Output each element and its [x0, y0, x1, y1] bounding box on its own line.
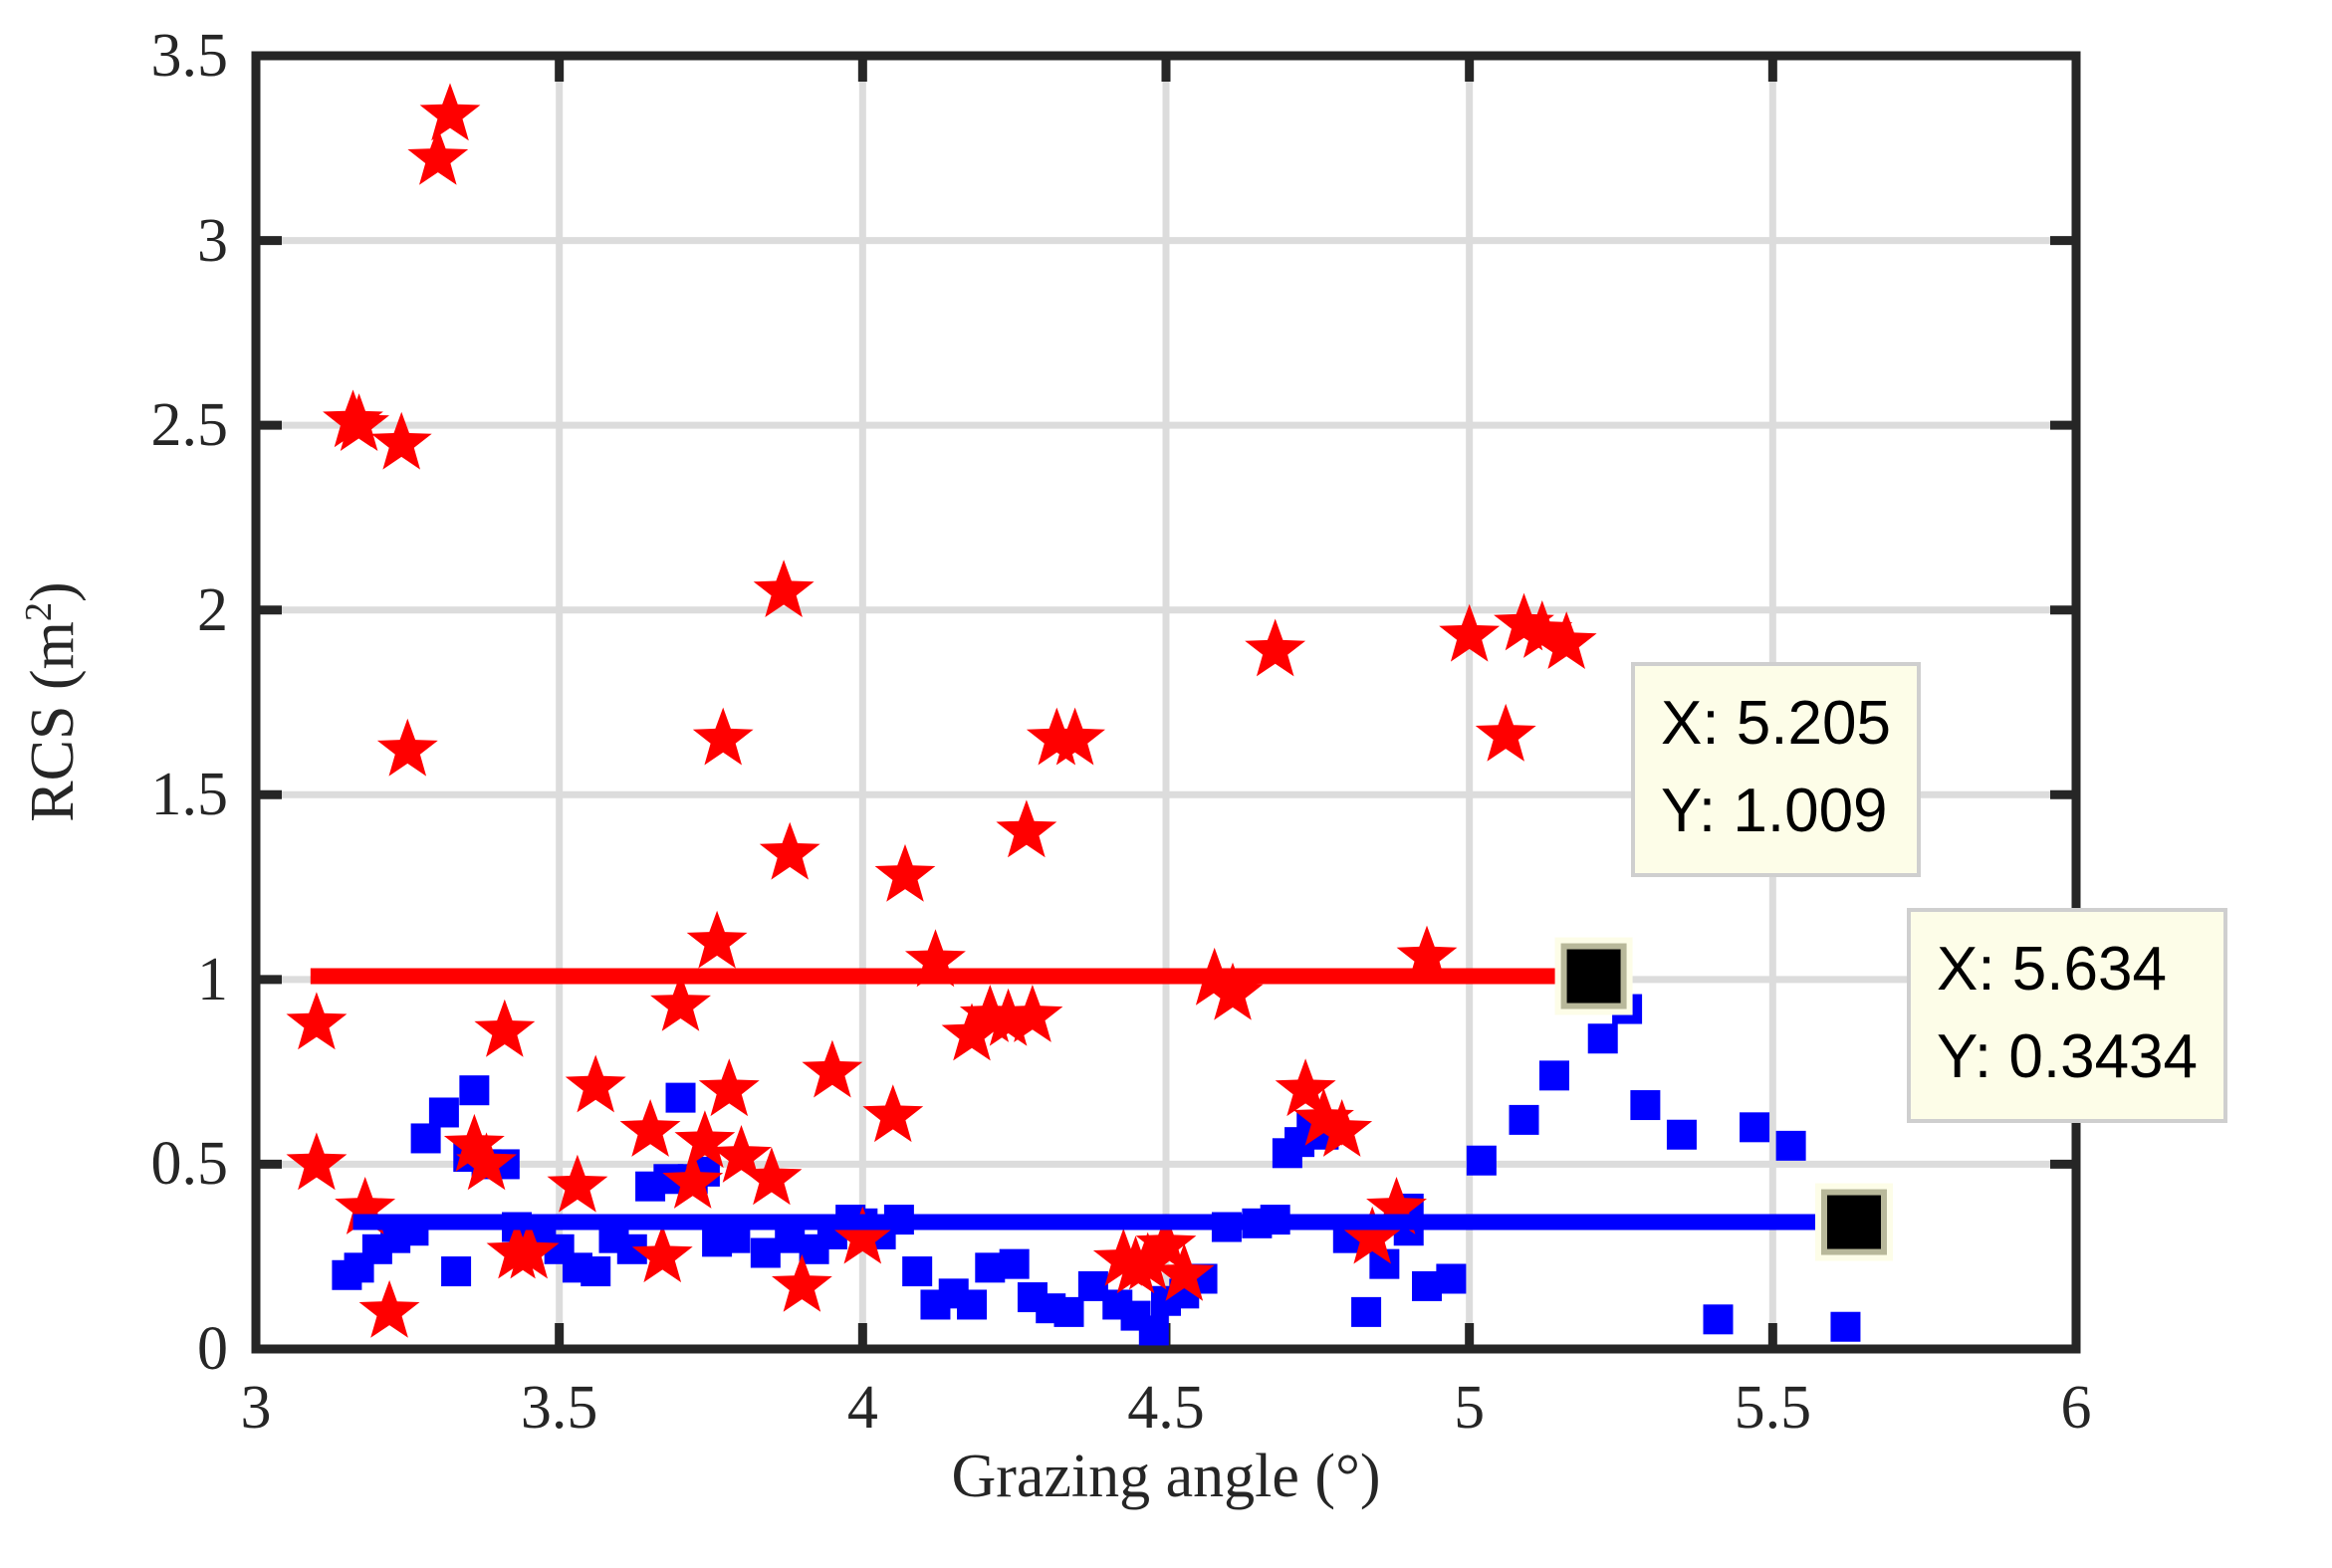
y-tick-label: 3 [197, 210, 228, 272]
data-point-square [1830, 1312, 1860, 1342]
x-tick-label: 4.5 [1127, 1377, 1205, 1439]
data-point-star [862, 1084, 923, 1142]
data-point-star [802, 1040, 862, 1098]
data-point-star [377, 719, 438, 777]
x-tick-label: 5.5 [1735, 1377, 1812, 1439]
red-datatip-marker[interactable] [1567, 950, 1621, 1004]
y-tick-label: 2 [197, 579, 228, 641]
y-axis-title-superscript: 2 [18, 602, 60, 621]
x-tick-label: 3.5 [521, 1377, 598, 1439]
data-point-star [287, 1132, 348, 1190]
red-star-series [287, 83, 1597, 1337]
data-point-square [1539, 1060, 1569, 1090]
data-point-star [687, 911, 748, 969]
data-point-star [566, 1055, 626, 1113]
blue-datatip-marker[interactable] [1827, 1196, 1881, 1249]
data-point-square [902, 1256, 932, 1286]
datatip-blue-point[interactable]: X: 5.634 Y: 0.3434 [1907, 908, 2227, 1123]
data-point-square [1054, 1297, 1084, 1327]
chart-figure: 00.511.522.533.5 33.544.555.56 Grazing a… [0, 0, 2332, 1568]
x-tick-label: 6 [2061, 1377, 2092, 1439]
data-point-square [1776, 1131, 1806, 1161]
data-point-square [1000, 1249, 1030, 1279]
x-tick-label: 4 [847, 1377, 878, 1439]
data-point-square [411, 1123, 441, 1153]
data-point-square [1630, 1090, 1660, 1120]
data-point-star [1476, 704, 1536, 762]
scatter-plot-canvas [0, 0, 2332, 1568]
data-point-star [474, 1000, 535, 1057]
y-axis-title-tail: ) [19, 581, 87, 602]
data-point-star [693, 708, 754, 766]
y-tick-label: 2.5 [151, 394, 229, 456]
data-point-star [287, 992, 348, 1049]
data-point-square [1139, 1315, 1169, 1345]
data-point-square [666, 1083, 696, 1113]
data-point-square [1667, 1120, 1697, 1150]
data-point-square [1588, 1023, 1618, 1053]
data-point-star [699, 1058, 760, 1116]
data-point-square [581, 1256, 610, 1286]
y-tick-label: 1.5 [151, 764, 229, 825]
datatip-red-point[interactable]: X: 5.205 Y: 1.009 [1631, 662, 1921, 877]
data-point-star [632, 1225, 693, 1282]
data-point-square [459, 1075, 489, 1105]
data-point-square [1467, 1146, 1497, 1176]
data-point-square [441, 1256, 471, 1286]
data-point-star [875, 844, 936, 902]
data-point-square [1703, 1304, 1733, 1334]
y-tick-label: 0 [197, 1318, 228, 1380]
data-point-star [359, 1280, 420, 1338]
y-tick-label: 3.5 [151, 25, 229, 87]
datatip-y-value: Y: 1.009 [1661, 768, 1891, 855]
y-axis-title-main: RCS (m [19, 621, 87, 822]
data-point-star [760, 822, 820, 880]
y-tick-label: 0.5 [151, 1133, 229, 1195]
data-point-square [429, 1097, 459, 1127]
datatip-y-value: Y: 0.3434 [1937, 1013, 2198, 1101]
data-point-square [1740, 1112, 1769, 1142]
x-axis-title: Grazing angle (°) [951, 1446, 1380, 1507]
x-tick-label: 5 [1454, 1377, 1485, 1439]
y-axis-title: RCS (m2) [20, 581, 84, 821]
y-tick-label: 1 [197, 949, 228, 1010]
data-point-star [420, 83, 481, 140]
data-point-square [1436, 1263, 1466, 1293]
x-tick-label: 3 [241, 1377, 272, 1439]
data-point-star [1245, 619, 1305, 677]
datatip-x-value: X: 5.634 [1937, 926, 2198, 1013]
data-point-star [996, 799, 1056, 857]
datatip-x-value: X: 5.205 [1661, 680, 1891, 768]
data-point-square [1351, 1297, 1381, 1327]
data-point-square [1510, 1105, 1539, 1135]
data-point-square [957, 1289, 987, 1319]
highlighted-markers[interactable] [1555, 938, 1893, 1261]
